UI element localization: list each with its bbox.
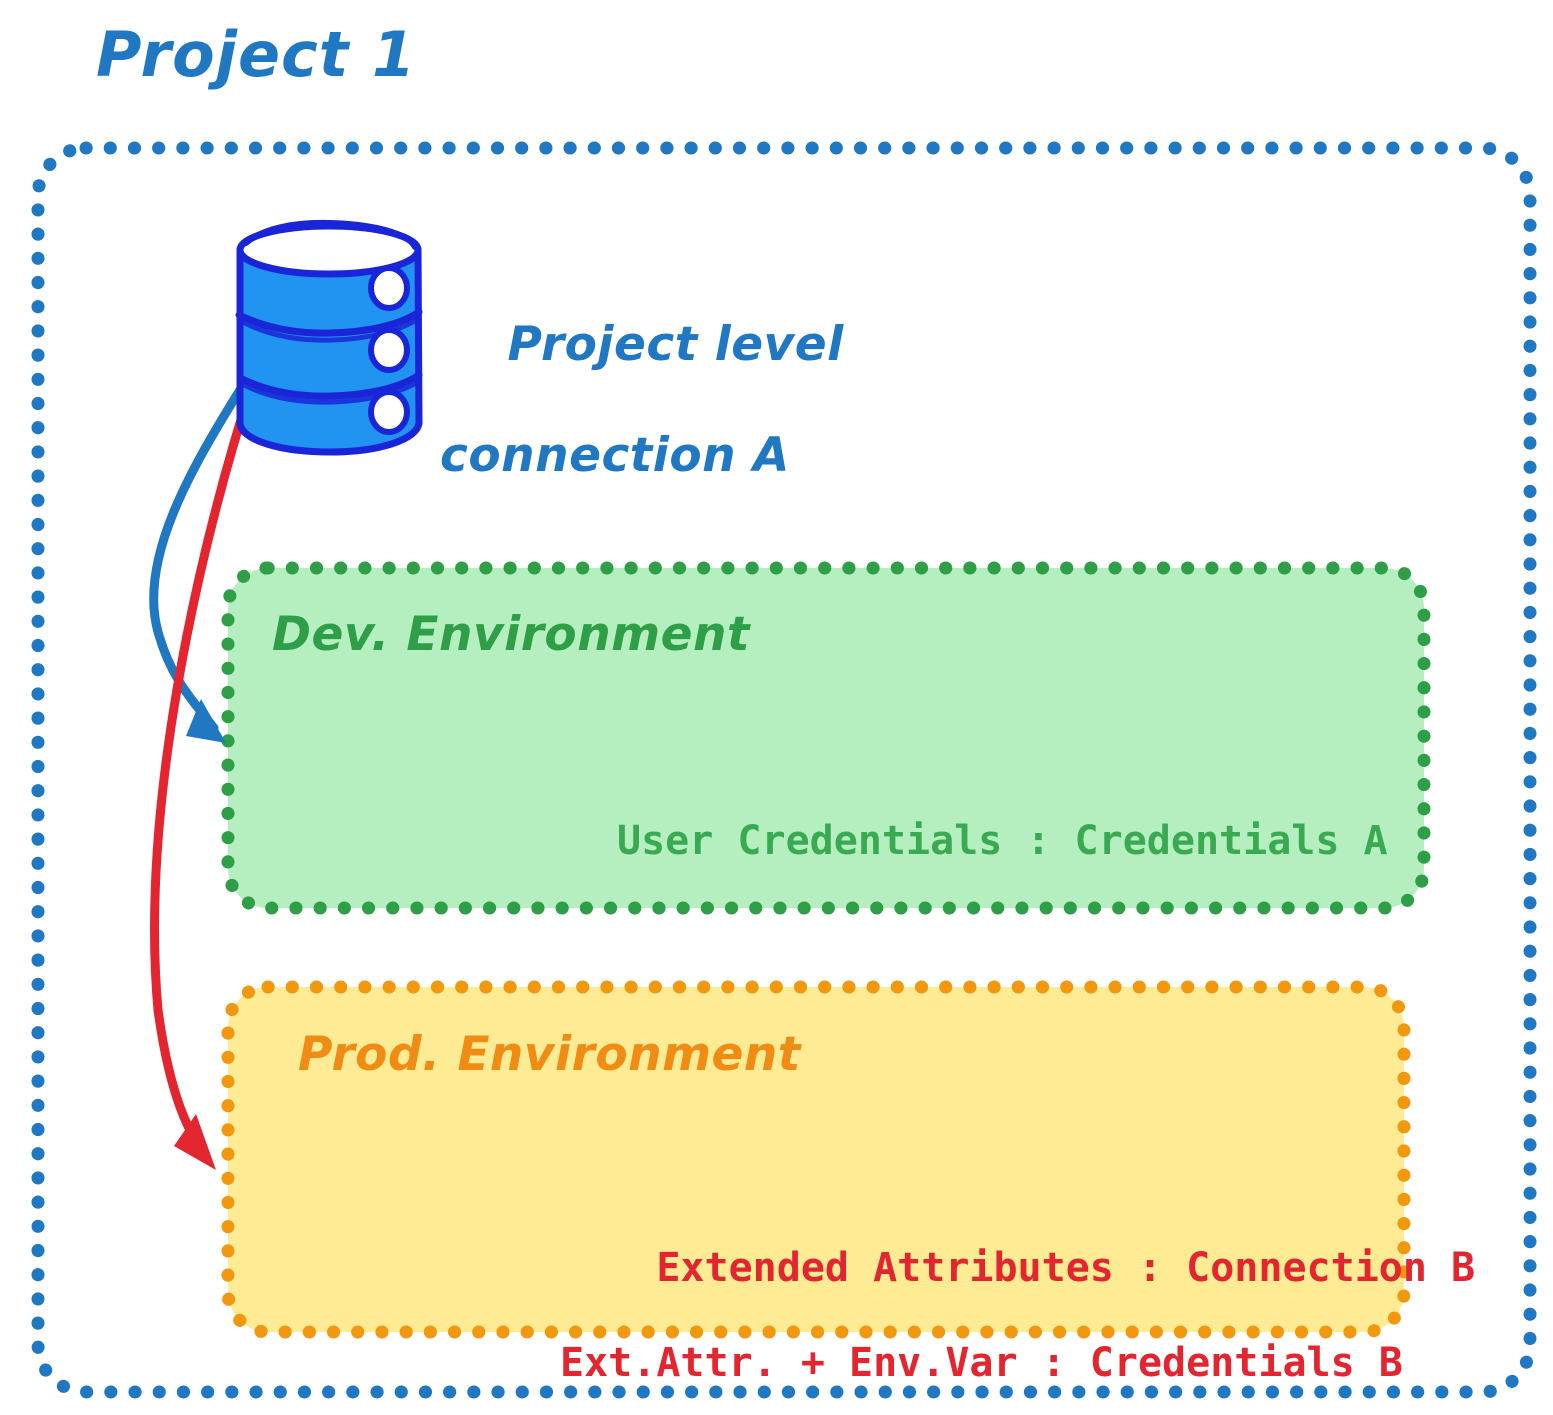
database-label-line2: connection A [440, 428, 844, 483]
page-title: Project 1 [96, 18, 416, 91]
dev-environment-credentials-line: User Credentials : Credentials A [617, 818, 1388, 865]
prod-environment-line2: Ext.Attr. + Env.Var : Credentials B [560, 1340, 1475, 1387]
prod-environment-body: Extended Attributes : Connection B Ext.A… [560, 1198, 1475, 1415]
database-label-line1: Project level [507, 317, 843, 372]
prod-environment-line1: Extended Attributes : Connection B [656, 1245, 1475, 1291]
database-label: Project level connection A [440, 262, 844, 595]
prod-environment-title: Prod. Environment [298, 1027, 801, 1082]
database-cylinder-icon[interactable] [239, 223, 419, 452]
dev-environment-title: Dev. Environment [272, 607, 750, 662]
diagram-canvas: Project 1 Project level connection A Dev… [0, 0, 1553, 1415]
